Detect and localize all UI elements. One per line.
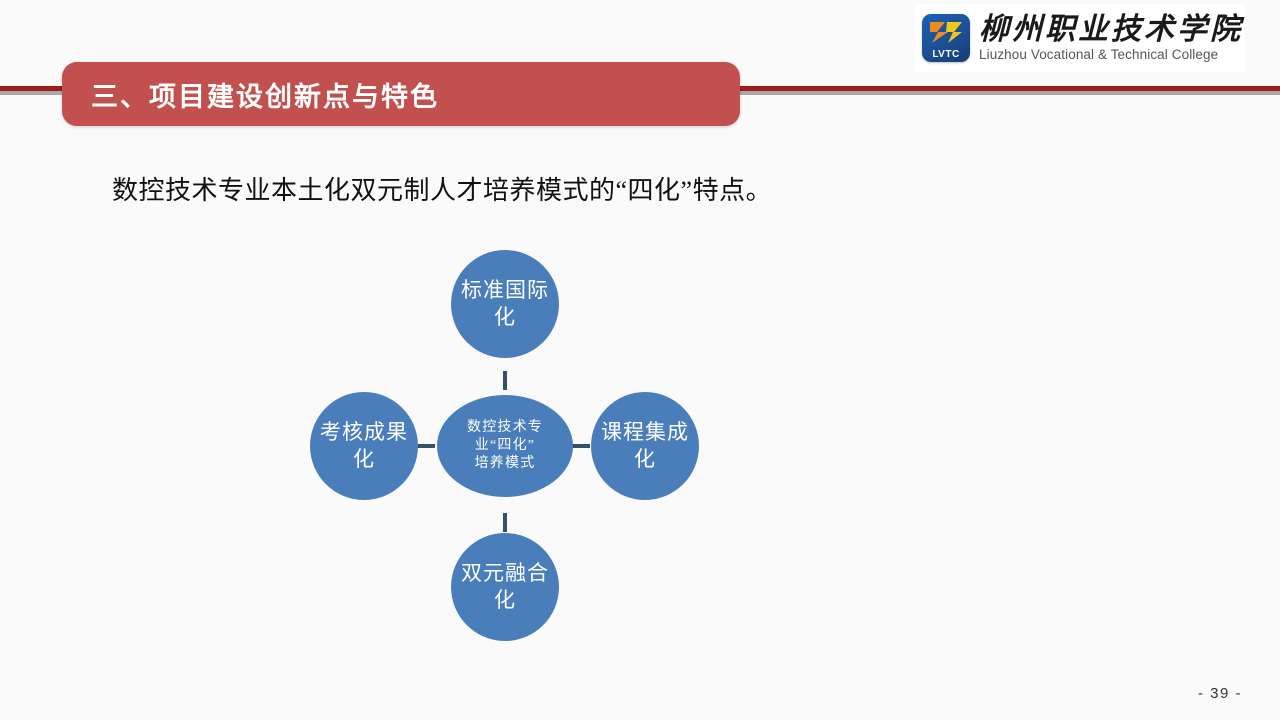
- page-number: - 39 -: [1198, 685, 1242, 702]
- logo-text-block: 柳州职业技术学院 Liuzhou Vocational & Technical …: [979, 14, 1243, 62]
- diagram-node-top[interactable]: 标准国际化: [451, 250, 559, 358]
- logo-english-name: Liuzhou Vocational & Technical College: [979, 47, 1243, 62]
- diagram-node-center[interactable]: 数控技术专 业“四化” 培养模式: [437, 395, 573, 497]
- college-logo: LVTC 柳州职业技术学院 Liuzhou Vocational & Techn…: [915, 4, 1245, 72]
- section-title-banner: 三、项目建设创新点与特色: [62, 62, 740, 126]
- diagram-center-line-2: 业“四化”: [467, 437, 543, 455]
- lvtc-mark-label: LVTC: [922, 49, 970, 60]
- four-hua-diagram: 标准国际化 课程集成化 双元融合化 考核成果化 数控技术专 业“四化” 培养模式: [300, 245, 720, 650]
- connector-bottom: [503, 513, 507, 532]
- lead-paragraph: 数控技术专业本土化双元制人才培养模式的“四化”特点。: [112, 170, 772, 207]
- connector-top: [503, 371, 507, 390]
- diagram-center-text: 数控技术专 业“四化” 培养模式: [467, 419, 543, 473]
- diagram-node-left[interactable]: 考核成果化: [310, 392, 418, 500]
- diagram-center-line-3: 培养模式: [467, 455, 543, 473]
- slide-canvas: LVTC 柳州职业技术学院 Liuzhou Vocational & Techn…: [0, 0, 1280, 720]
- connector-left: [416, 444, 435, 448]
- section-title-text: 三、项目建设创新点与特色: [91, 75, 439, 114]
- diagram-node-right[interactable]: 课程集成化: [591, 392, 699, 500]
- lvtc-mark-icon: LVTC: [922, 14, 970, 62]
- lightning-bolt-icon: [928, 19, 964, 45]
- diagram-center-line-1: 数控技术专: [467, 419, 543, 437]
- logo-chinese-name: 柳州职业技术学院: [979, 14, 1243, 46]
- connector-right: [571, 444, 590, 448]
- diagram-node-bottom[interactable]: 双元融合化: [451, 533, 559, 641]
